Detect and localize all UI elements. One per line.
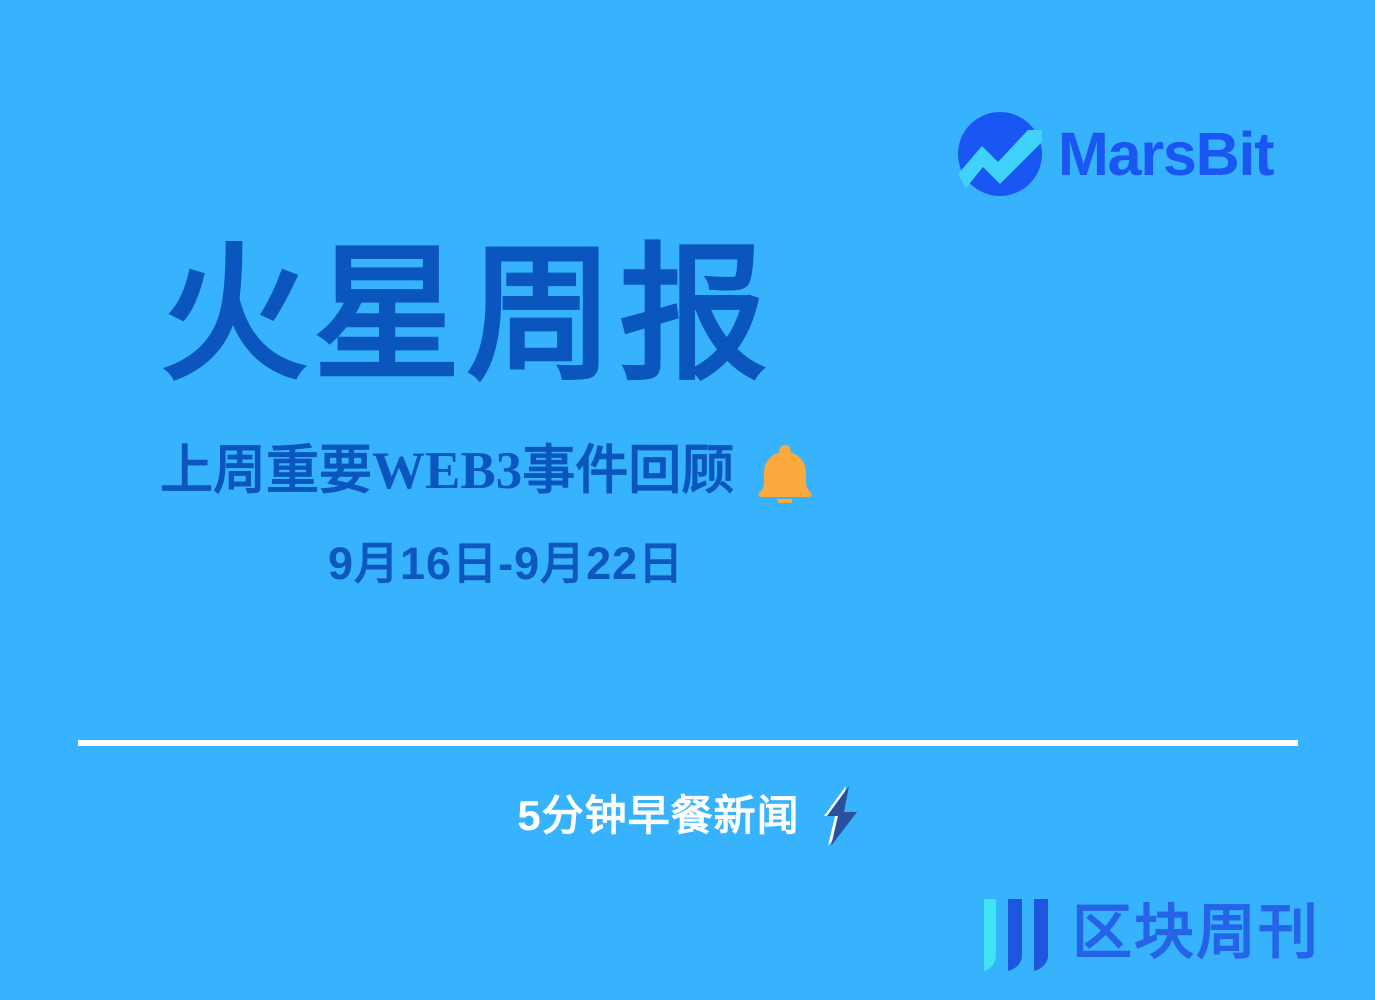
divider — [78, 740, 1298, 746]
marsbit-brand-lockup[interactable]: MarsBit — [958, 112, 1273, 196]
lightning-bolt-icon — [818, 786, 858, 846]
marsbit-wordmark: MarsBit — [1058, 124, 1273, 185]
subtitle-row: 上周重要WEB3事件回顾 — [160, 441, 1220, 503]
date-range: 9月16日-9月22日 — [328, 541, 1220, 586]
tagline-row: 5分钟早餐新闻 — [0, 786, 1375, 846]
publisher-brand-lockup[interactable]: 区块周刊 — [982, 893, 1320, 973]
page-title: 火星周报 — [160, 238, 1220, 395]
tagline-text: 5分钟早餐新闻 — [517, 795, 799, 837]
publisher-name: 区块周刊 — [1072, 903, 1320, 963]
headline-block: 火星周报 上周重要WEB3事件回顾 9月16日-9月22日 — [160, 238, 1220, 586]
page-subtitle: 上周重要WEB3事件回顾 — [160, 445, 734, 498]
blockchain-weekly-bars-icon — [982, 893, 1058, 973]
weekly-report-poster: MarsBit 火星周报 上周重要WEB3事件回顾 9月16日-9月22日 5分… — [0, 0, 1375, 1000]
marsbit-logo-icon — [958, 112, 1042, 196]
bell-icon — [756, 443, 814, 503]
